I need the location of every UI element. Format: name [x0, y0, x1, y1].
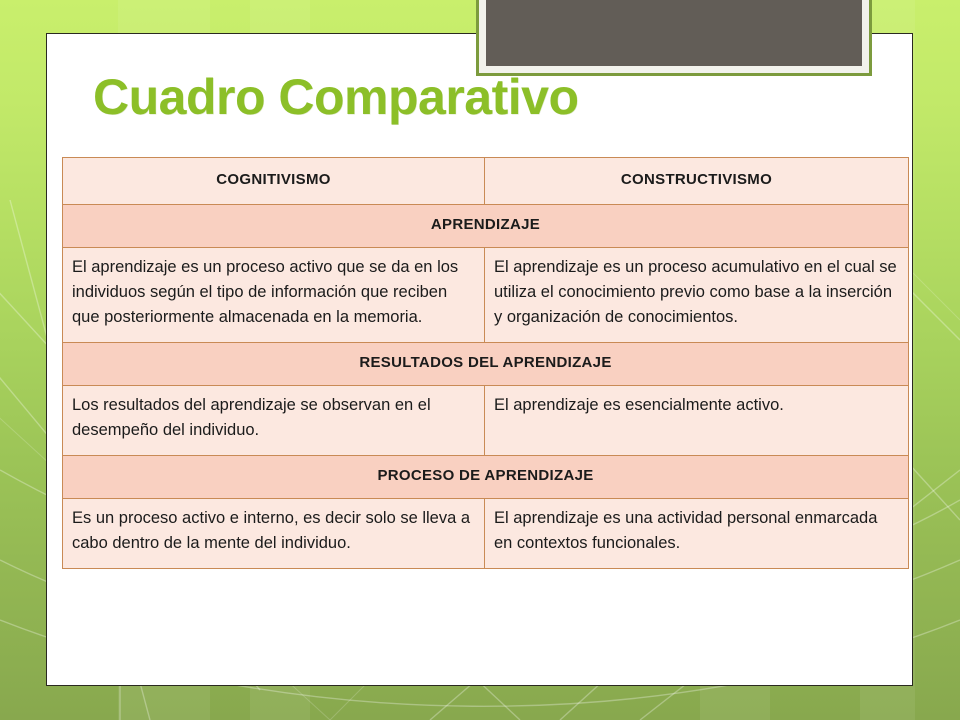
section-heading-row: RESULTADOS DEL APRENDIZAJE: [63, 342, 909, 385]
section-heading-resultados: RESULTADOS DEL APRENDIZAJE: [63, 342, 909, 385]
section-heading-row: APRENDIZAJE: [63, 204, 909, 247]
column-header-constructivismo: CONSTRUCTIVISMO: [485, 158, 909, 205]
cell-constructivismo-aprendizaje: El aprendizaje es un proceso acumulativo…: [485, 247, 909, 342]
page-title: Cuadro Comparativo: [93, 70, 579, 125]
picture-placeholder[interactable]: [476, 0, 872, 76]
table-row: Los resultados del aprendizaje se observ…: [63, 385, 909, 455]
section-heading-row: PROCESO DE APRENDIZAJE: [63, 455, 909, 498]
cell-cognitivismo-proceso: Es un proceso activo e interno, es decir…: [63, 498, 485, 568]
comparison-table: COGNITIVISMO CONSTRUCTIVISMO APRENDIZAJE…: [62, 157, 909, 569]
table-row: El aprendizaje es un proceso activo que …: [63, 247, 909, 342]
table-header-row: COGNITIVISMO CONSTRUCTIVISMO: [63, 158, 909, 205]
section-heading-aprendizaje: APRENDIZAJE: [63, 204, 909, 247]
comparison-table-wrapper: COGNITIVISMO CONSTRUCTIVISMO APRENDIZAJE…: [62, 157, 908, 569]
slide-canvas: Cuadro Comparativo COGNITIVISMO CONSTRUC…: [0, 0, 960, 720]
cell-constructivismo-proceso: El aprendizaje es una actividad personal…: [485, 498, 909, 568]
column-header-cognitivismo: COGNITIVISMO: [63, 158, 485, 205]
table-row: Es un proceso activo e interno, es decir…: [63, 498, 909, 568]
cell-cognitivismo-resultados: Los resultados del aprendizaje se observ…: [63, 385, 485, 455]
cell-constructivismo-resultados: El aprendizaje es esencialmente activo.: [485, 385, 909, 455]
section-heading-proceso: PROCESO DE APRENDIZAJE: [63, 455, 909, 498]
cell-cognitivismo-aprendizaje: El aprendizaje es un proceso activo que …: [63, 247, 485, 342]
picture-image: [486, 0, 862, 66]
